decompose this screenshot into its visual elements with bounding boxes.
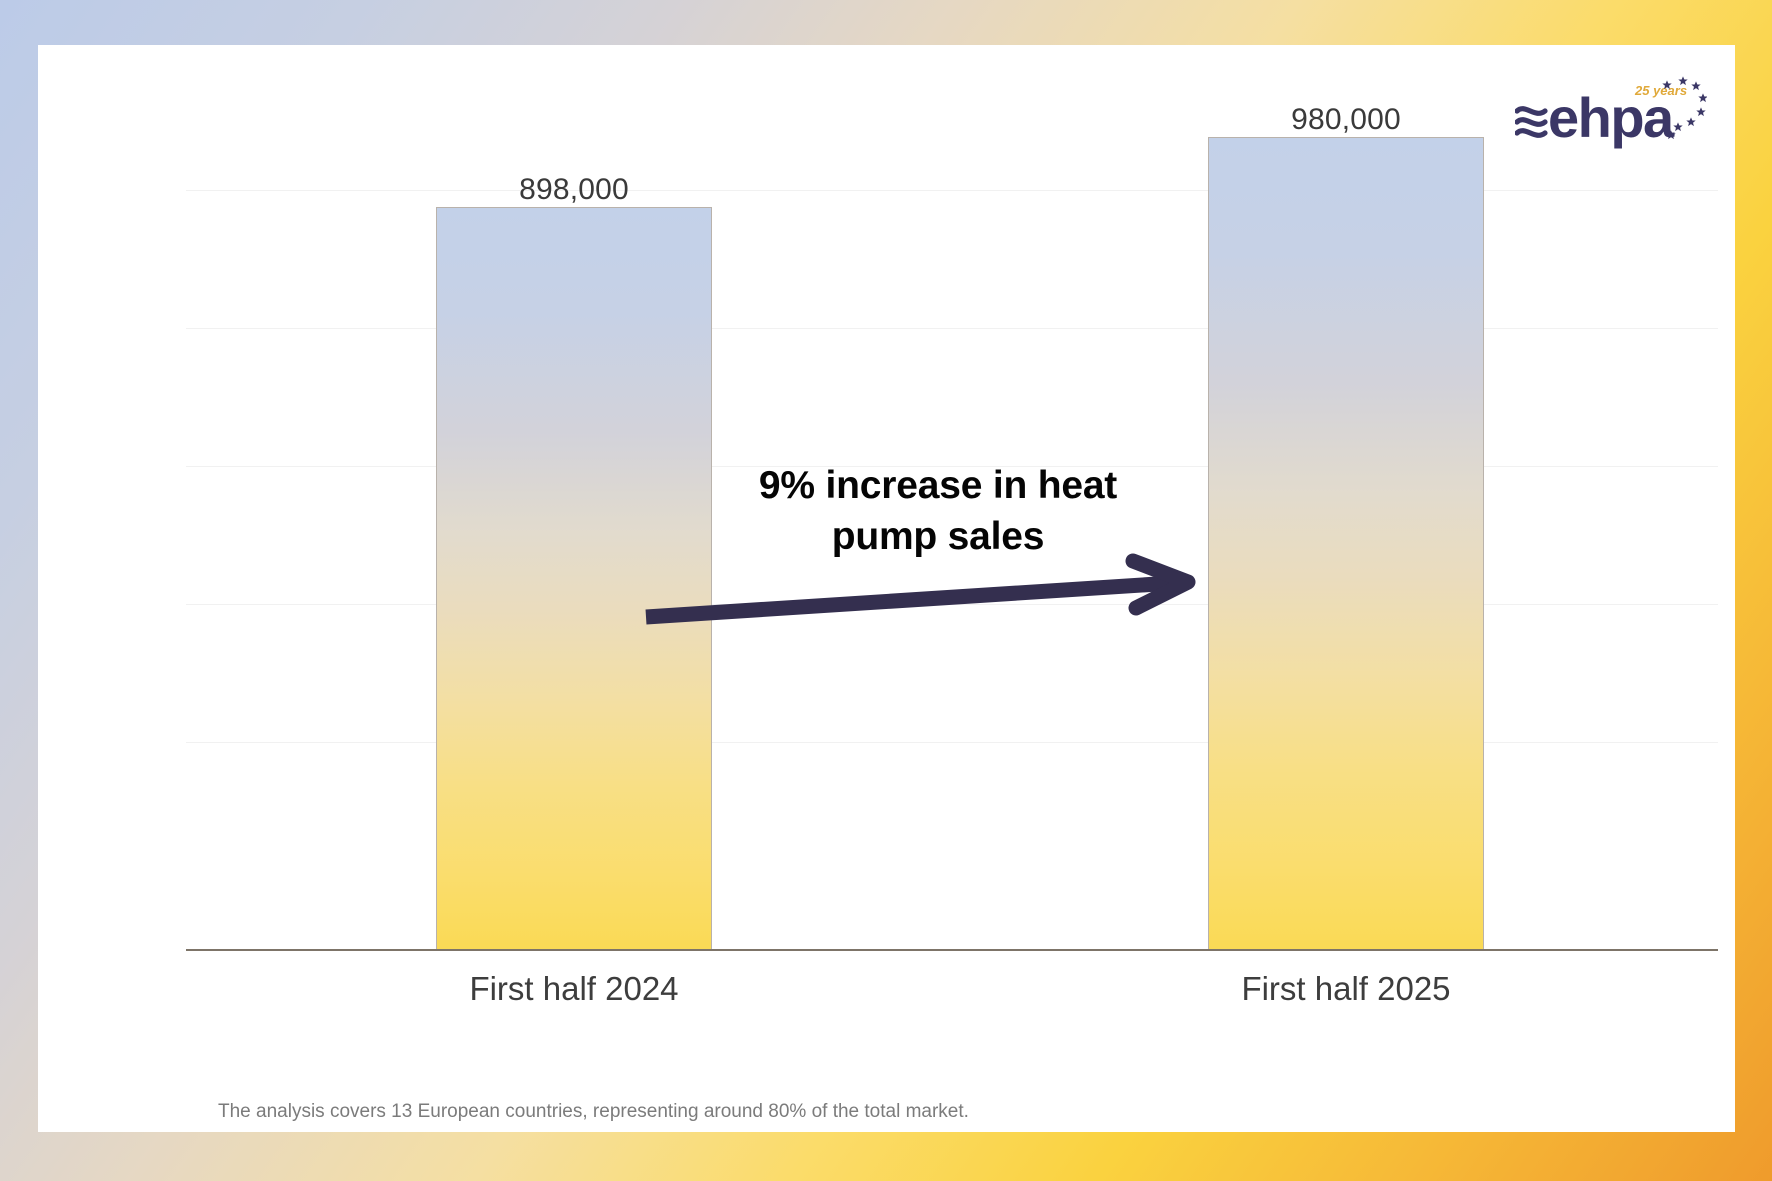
growth-arrow-icon xyxy=(628,545,1278,645)
x-axis-line xyxy=(186,949,1718,951)
slide-background: ehpa 25 years xyxy=(0,0,1772,1181)
slide-card: ehpa 25 years xyxy=(38,45,1735,1132)
footnote-text: The analysis covers 13 European countrie… xyxy=(218,1101,969,1123)
callout-line-1: 9% increase in heat xyxy=(728,460,1148,511)
bar-value-label-2024: 898,000 xyxy=(436,173,712,207)
gridline xyxy=(186,328,1718,329)
bar-value-label-2025: 980,000 xyxy=(1208,103,1484,137)
category-label-2025: First half 2025 xyxy=(1208,970,1484,1008)
gridline xyxy=(186,742,1718,743)
gridline xyxy=(186,190,1718,191)
bar-first-half-2025[interactable] xyxy=(1208,137,1484,949)
category-label-2024: First half 2024 xyxy=(436,970,712,1008)
